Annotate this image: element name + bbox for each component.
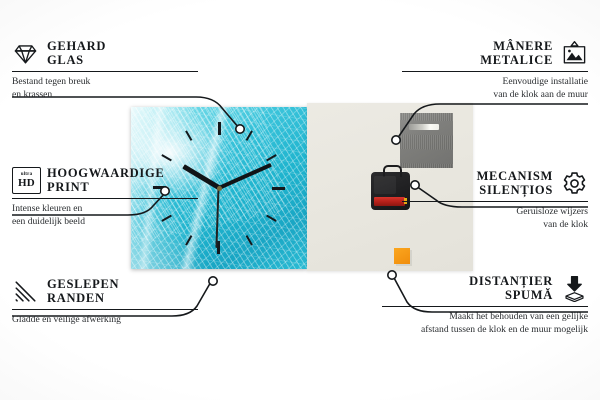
feature-distantier-spuma: DISTANȚIER SPUMĂ Maakt het behouden van … xyxy=(382,275,588,336)
feature-title-line2: RANDEN xyxy=(47,292,119,306)
battery xyxy=(374,197,405,206)
feature-title-line2: METALICE xyxy=(480,54,553,68)
divider xyxy=(12,309,198,310)
feature-geslepen-randen: GESLEPEN RANDEN Gladde en veilige afwerk… xyxy=(12,278,198,327)
leader-dot-geslepen-randen xyxy=(209,277,217,285)
divider xyxy=(402,71,588,72)
hanger-keyhole-slot xyxy=(409,124,439,130)
divider xyxy=(12,198,198,199)
hand-center-cap xyxy=(217,186,222,191)
feature-title-line2: PRINT xyxy=(47,181,164,195)
wall-mount-frame-icon xyxy=(561,40,588,67)
metal-hanger-plate xyxy=(400,113,453,168)
beveled-edges-icon xyxy=(12,278,39,305)
feature-title-line1: GEHARD xyxy=(47,40,106,54)
ultra-hd-icon: ultra HD xyxy=(12,167,39,194)
feature-desc-line2: en krassen xyxy=(12,89,198,101)
feature-desc-line2: een duidelijk beeld xyxy=(12,216,198,228)
feature-desc-line1: Intense kleuren en xyxy=(12,203,198,215)
feature-title-line1: GESLEPEN xyxy=(47,278,119,292)
feature-desc-line2: van de klok xyxy=(402,219,588,231)
feature-title-line1: MECANISM xyxy=(477,170,553,184)
divider xyxy=(12,71,198,72)
feature-title-line1: HOOGWAARDIGE xyxy=(47,167,164,181)
feature-title-line2: GLAS xyxy=(47,54,106,68)
feature-desc-line1: Gladde en veilige afwerking xyxy=(12,314,198,326)
feature-title-line2: SPUMĂ xyxy=(469,289,553,303)
mechanism-housing xyxy=(374,176,396,194)
divider xyxy=(382,306,588,307)
divider xyxy=(402,201,588,202)
feature-title-line1: MÂNERE xyxy=(480,40,553,54)
feature-desc-line1: Bestand tegen breuk xyxy=(12,76,198,88)
feature-title-line1: DISTANȚIER xyxy=(469,275,553,289)
foam-spacer xyxy=(394,248,410,264)
feature-desc-line1: Geruisloze wijzers xyxy=(402,206,588,218)
gear-icon xyxy=(561,170,588,197)
feature-hoogwaardige-print: ultra HD HOOGWAARDIGE PRINT Intense kleu… xyxy=(12,167,198,228)
foam-spacer-arrow-icon xyxy=(561,275,588,302)
infographic-canvas: GEHARD GLAS Bestand tegen breuk en krass… xyxy=(0,0,600,400)
feature-title-line2: SILENȚIOS xyxy=(477,184,553,198)
feature-manere-metalice: MÂNERE METALICE Eenvoudige installatie v… xyxy=(402,40,588,101)
ultra-hd-large-label: HD xyxy=(18,178,35,189)
feature-desc-line2: van de klok aan de muur xyxy=(402,89,588,101)
feature-mecanism-silentios: MECANISM SILENȚIOS Geruisloze wijzers va… xyxy=(402,170,588,231)
feature-gehard-glas: GEHARD GLAS Bestand tegen breuk en krass… xyxy=(12,40,198,101)
diamond-icon xyxy=(12,40,39,67)
feature-desc-line2: afstand tussen de klok en de muur mogeli… xyxy=(382,324,588,336)
feature-desc-line1: Maakt het behouden van een gelijke xyxy=(382,311,588,323)
feature-desc-line1: Eenvoudige installatie xyxy=(402,76,588,88)
